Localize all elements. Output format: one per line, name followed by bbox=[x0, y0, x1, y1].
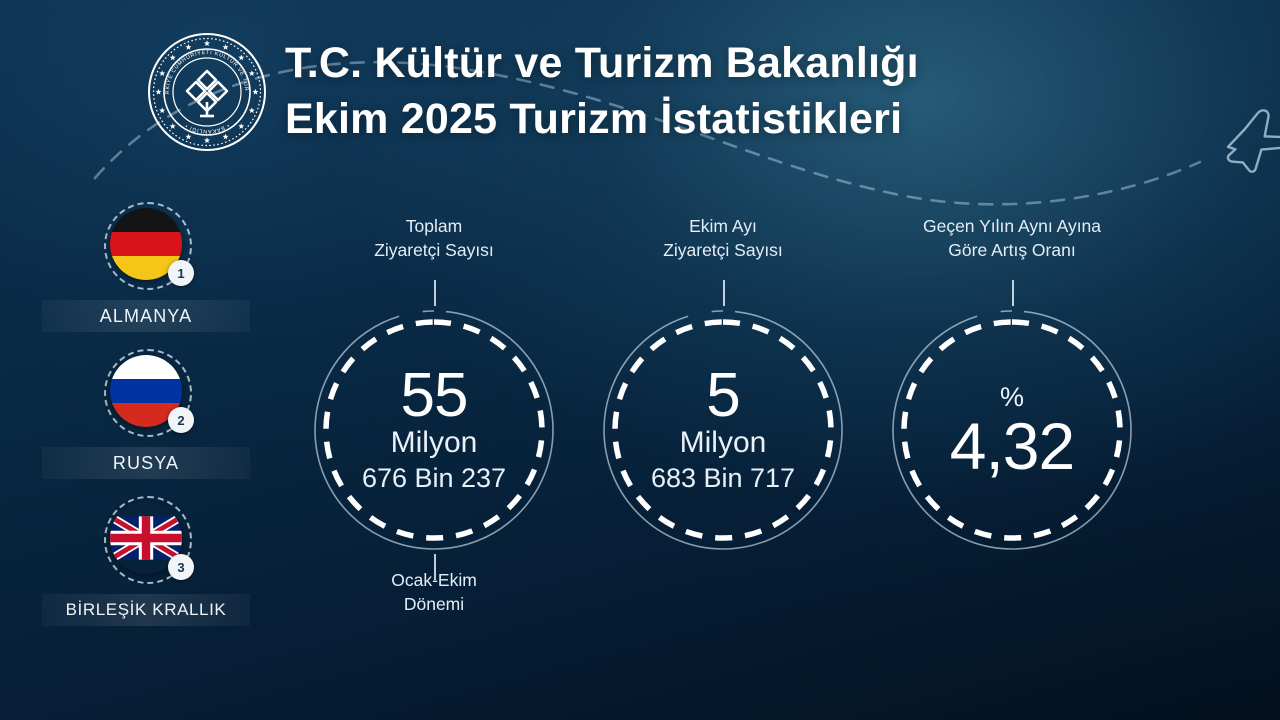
stat-value: 4,32 bbox=[950, 414, 1074, 478]
flag-wrap: 2 bbox=[110, 355, 182, 427]
connector-tick-top bbox=[1012, 280, 1014, 306]
top-countries-list: 1 ALMANYA 2 RUSYA bbox=[42, 208, 250, 649]
page-header: TÜRKİYE CUMHURİYETİ KÜLTÜR VE TURİZM • B… bbox=[0, 0, 1280, 180]
rank-badge: 1 bbox=[168, 260, 194, 286]
flag-wrap: 1 bbox=[110, 208, 182, 280]
stat-unit: Milyon bbox=[391, 426, 478, 460]
caption-line-1: Ekim Ayı bbox=[573, 214, 873, 238]
stat-caption: Geçen Yılın Aynı Ayına Göre Artış Oranı bbox=[862, 214, 1162, 262]
title-line-2: Ekim 2025 Turizm İstatistikleri bbox=[285, 94, 919, 144]
stat-unit: Milyon bbox=[680, 426, 767, 460]
rank-badge: 2 bbox=[168, 407, 194, 433]
caption-line-1: Geçen Yılın Aynı Ayına bbox=[862, 214, 1162, 238]
country-label: BİRLEŞİK KRALLIK bbox=[66, 600, 227, 620]
stat-subvalue: 683 Bin 717 bbox=[651, 462, 795, 494]
connector-tick-top bbox=[434, 280, 436, 306]
infographic-canvas: TÜRKİYE CUMHURİYETİ KÜLTÜR VE TURİZM • B… bbox=[0, 0, 1280, 720]
country-item-germany[interactable]: 1 ALMANYA bbox=[42, 208, 250, 355]
title-line-1: T.C. Kültür ve Turizm Bakanlığı bbox=[285, 38, 919, 88]
footer-line-2: Dönemi bbox=[284, 592, 584, 616]
country-name-plate: BİRLEŞİK KRALLIK bbox=[42, 594, 250, 626]
country-item-united-kingdom[interactable]: 3 BİRLEŞİK KRALLIK bbox=[42, 502, 250, 649]
stat-total-visitors: Toplam Ziyaretçi Sayısı 55 Milyon 676 Bi… bbox=[284, 214, 584, 616]
country-name-plate: ALMANYA bbox=[42, 300, 250, 332]
country-name-plate: RUSYA bbox=[42, 447, 250, 479]
stat-value: 5 bbox=[706, 367, 739, 425]
caption-line-2: Ziyaretçi Sayısı bbox=[573, 238, 873, 262]
caption-line-1: Toplam bbox=[284, 214, 584, 238]
caption-line-2: Ziyaretçi Sayısı bbox=[284, 238, 584, 262]
stat-value: 55 bbox=[401, 367, 468, 425]
stat-october-visitors: Ekim Ayı Ziyaretçi Sayısı 5 Milyon 683 B… bbox=[573, 214, 873, 554]
stat-value-group: 5 Milyon 683 Bin 717 bbox=[599, 306, 847, 554]
stat-subvalue: 676 Bin 237 bbox=[362, 462, 506, 494]
connector-tick-top bbox=[723, 280, 725, 306]
stat-value-group: % 4,32 bbox=[888, 306, 1136, 554]
page-title: T.C. Kültür ve Turizm Bakanlığı Ekim 202… bbox=[285, 38, 919, 144]
stat-ring: % 4,32 bbox=[888, 306, 1136, 554]
country-item-russia[interactable]: 2 RUSYA bbox=[42, 355, 250, 502]
stat-caption: Ekim Ayı Ziyaretçi Sayısı bbox=[573, 214, 873, 262]
stat-caption: Toplam Ziyaretçi Sayısı bbox=[284, 214, 584, 262]
stat-ring: 55 Milyon 676 Bin 237 bbox=[310, 306, 558, 554]
rank-badge: 3 bbox=[168, 554, 194, 580]
flag-wrap: 3 bbox=[110, 502, 182, 574]
country-label: RUSYA bbox=[113, 453, 179, 474]
connector-tick-bottom bbox=[434, 554, 436, 580]
country-label: ALMANYA bbox=[100, 306, 192, 327]
stat-growth-rate: Geçen Yılın Aynı Ayına Göre Artış Oranı … bbox=[862, 214, 1162, 554]
ministry-emblem: TÜRKİYE CUMHURİYETİ KÜLTÜR VE TURİZM • B… bbox=[146, 31, 268, 153]
caption-line-2: Göre Artış Oranı bbox=[862, 238, 1162, 262]
stat-ring: 5 Milyon 683 Bin 717 bbox=[599, 306, 847, 554]
percent-sign: % bbox=[1000, 382, 1024, 412]
stat-value-group: 55 Milyon 676 Bin 237 bbox=[310, 306, 558, 554]
